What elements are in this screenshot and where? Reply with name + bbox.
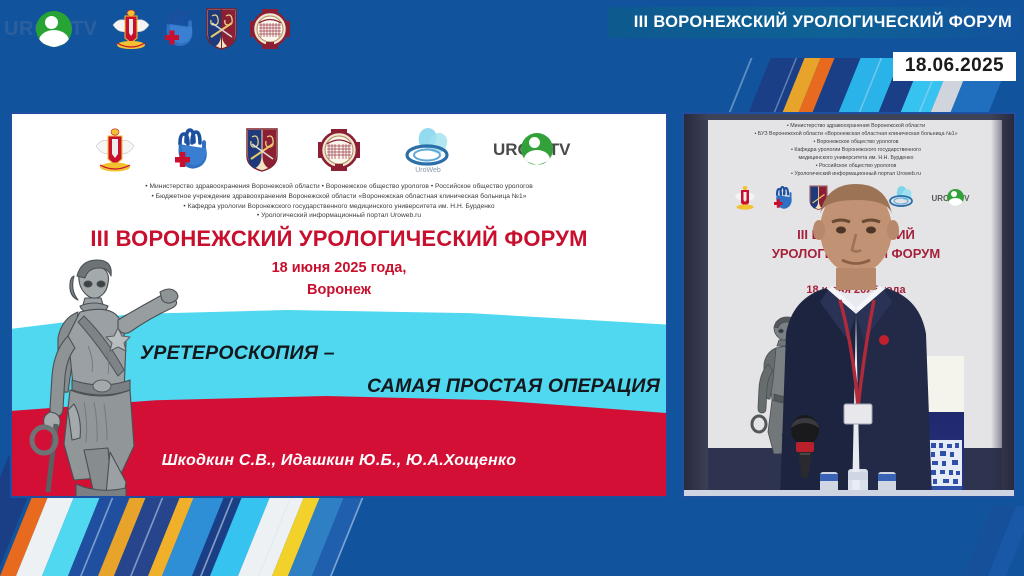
slide-organizer-logos: UroWeb URO TV [12,122,666,178]
forum-date-line-1: 18 июня 2025 года, [12,257,666,279]
urology-shield-icon [205,7,238,51]
urotv-green-circle-icon [947,189,964,206]
slide-forum-title: III ВОРОНЕЖСКИЙ УРОЛОГИЧЕСКИЙ ФОРУМ [12,226,666,252]
presentation-slide[interactable]: UroWeb URO TV • Министерство здравоохран… [10,112,668,498]
blue-hand-cross-icon [173,127,209,173]
slide-authors: Шкодкин С.В., Идашкин Ю.Б., Ю.А.Хощенко [12,452,666,470]
urotv-green-circle-icon [521,133,553,165]
video-right-wall [1002,114,1014,496]
voronezh-coat-of-arms-icon [93,127,137,173]
header-logo-row: URO TV [4,2,293,56]
voronezh-coat-of-arms-icon [733,185,757,211]
forum-banner: III ВОРОНЕЖСКИЙ УРОЛОГИЧЕСКИЙ ФОРУМ [608,7,1024,38]
organizer-line: • Урологический информационный портал Ur… [12,211,666,221]
video-left-wall [684,114,708,496]
urotv-green-circle-icon [36,11,72,47]
urotv-logo-icon: URO TV [4,10,100,48]
presentation-title-line-2: САМАЯ ПРОСТАЯ ОПЕРАЦИЯ [140,375,660,398]
svg-text:UroWeb: UroWeb [415,167,441,174]
forum-banner-title: III ВОРОНЕЖСКИЙ УРОЛОГИЧЕСКИЙ ФОРУМ [634,13,1012,32]
urotv-logo-icon: URO TV [493,131,585,169]
video-top-wall [684,114,1014,120]
date-badge-text: 18.06.2025 [905,55,1004,76]
projected-organizer-line: медицинского университета им. Н.Н. Бурде… [706,155,1006,163]
projected-organizer-line: • БУЗ Воронежской области «Воронежская о… [706,131,1006,139]
screen-root: URO TV [0,0,1024,576]
projected-organizers-text: • Министерство здравоохранения Воронежск… [706,123,1006,179]
slide-organizers-text: • Министерство здравоохранения Воронежск… [12,182,666,221]
voronezh-coat-of-arms-icon [109,7,153,51]
urotv-tv-text: TV [71,18,98,41]
slide-forum-date: 18 июня 2025 года, Воронеж [12,257,666,302]
projected-organizer-line: • Кафедра урологии Воронежского государс… [706,147,1006,155]
forum-date-line-2: Воронеж [12,279,666,301]
slide-presentation-title: УРЕТЕРОСКОПИЯ – САМАЯ ПРОСТАЯ ОПЕРАЦИЯ [140,342,660,398]
speaker-video-panel[interactable]: • Министерство здравоохранения Воронежск… [682,112,1016,498]
hospital-round-emblem-icon [315,126,363,174]
hospital-round-emblem-icon [247,6,293,52]
organizer-line: • Кафедра урологии Воронежского государс… [12,202,666,212]
date-badge: 18.06.2025 [893,52,1016,81]
organizer-line: • Бюджетное учреждение здравоохранения В… [12,192,666,202]
presentation-title-line-1: УРЕТЕРОСКОПИЯ – [140,342,660,365]
organizer-line: • Министерство здравоохранения Воронежск… [12,182,666,192]
uroweb-logo-icon: UroWeb [399,125,457,175]
projected-organizer-line: • Воронежское общество урологов [706,139,1006,147]
projected-organizer-line: • Российское общество урологов [706,163,1006,171]
video-bottom-strip [684,490,1014,496]
projected-organizer-line: • Министерство здравоохранения Воронежск… [706,123,1006,131]
urology-shield-icon [245,127,279,173]
blue-hand-cross-icon [162,8,196,50]
